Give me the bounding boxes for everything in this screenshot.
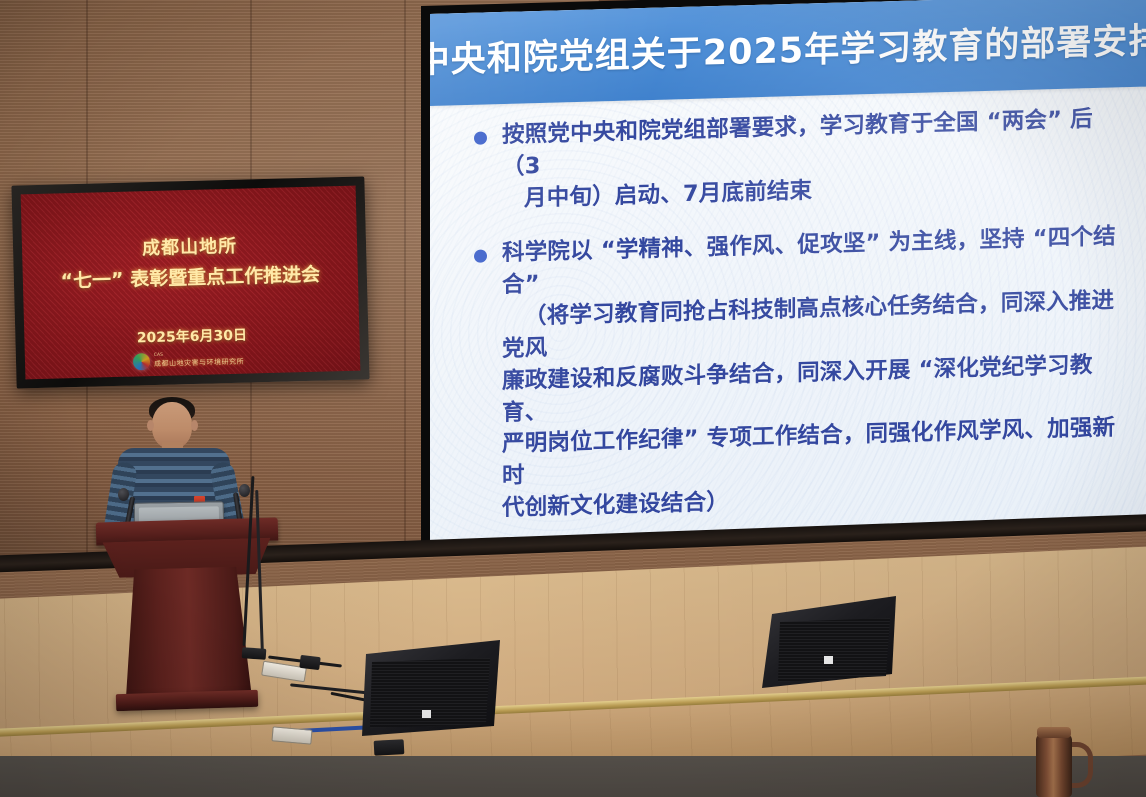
slide-bullet-1: 按照党中央和院党组部署要求，学习教育于全国 “两会” 后（3 月中旬）启动、7月… <box>474 103 1122 216</box>
power-plug <box>299 655 320 670</box>
institute-logo-mark-icon <box>133 353 150 370</box>
monitor-left-brand-badge <box>422 710 431 718</box>
microphone-head-right-icon <box>239 484 250 497</box>
microphone-head-left-icon <box>118 488 129 501</box>
power-plug <box>242 647 267 660</box>
institute-logo-name: 成都山地灾害与环境研究所 <box>154 357 244 369</box>
presenter-ear-right <box>191 420 198 431</box>
monitor-right-grille <box>778 618 890 682</box>
projection-screen: 中央和院党组关于2025年学习教育的部署安排 按照党中央和院党组部署要求，学习教… <box>419 0 1146 576</box>
bullet-1-line-1: 按照党中央和院党组部署要求，学习教育于全国 “两会” 后（3 <box>502 106 1093 180</box>
institute-logo: CAS 成都山地灾害与环境研究所 <box>133 351 244 371</box>
stage-monitor-left <box>362 640 500 744</box>
podium-base <box>116 690 258 711</box>
bullet-1-line-2: 月中旬）启动、7月底前结束 <box>502 167 1122 216</box>
slide-title-bar: 中央和院党组关于2025年学习教育的部署安排 <box>430 0 1146 106</box>
thermos-lid <box>1037 727 1071 738</box>
presenter-ear-left <box>147 420 154 431</box>
presentation-slide: 中央和院党组关于2025年学习教育的部署安排 按照党中央和院党组部署要求，学习教… <box>430 0 1146 544</box>
bullet-dot-icon <box>474 249 487 262</box>
led-banner-line1: 成都山地所 <box>22 229 358 264</box>
led-banner-date: 2025年6月30日 <box>24 322 359 351</box>
institute-logo-text: CAS 成都山地灾害与环境研究所 <box>154 352 244 369</box>
slide-body: 按照党中央和院党组部署要求，学习教育于全国 “两会” 后（3 月中旬）启动、7月… <box>474 103 1122 576</box>
slide-bullet-2: 科学院以 “学精神、强作风、促攻坚” 为主线，坚持 “四个结合” （将学习教育同… <box>474 221 1122 526</box>
thermos-flask <box>1036 734 1072 797</box>
slide-bullet-2-text: 科学院以 “学精神、强作风、促攻坚” 为主线，坚持 “四个结合” （将学习教育同… <box>502 221 1122 525</box>
screen-surface: 中央和院党组关于2025年学习教育的部署安排 按照党中央和院党组部署要求，学习教… <box>419 0 1146 576</box>
monitor-right-brand-badge <box>824 656 833 664</box>
slide-bullet-1-text: 按照党中央和院党组部署要求，学习教育于全国 “两会” 后（3 月中旬）启动、7月… <box>502 103 1122 216</box>
led-banner-frame: 成都山地所 “七一” 表彰暨重点工作推进会 2025年6月30日 CAS 成都山… <box>11 176 369 388</box>
podium-column <box>122 566 252 699</box>
bullet-dot-icon <box>474 131 487 144</box>
conference-hall-scene: 成都山地所 “七一” 表彰暨重点工作推进会 2025年6月30日 CAS 成都山… <box>0 0 1146 797</box>
led-banner-screen: 成都山地所 “七一” 表彰暨重点工作推进会 2025年6月30日 CAS 成都山… <box>21 186 361 380</box>
led-banner-line2: “七一” 表彰暨重点工作推进会 <box>23 259 359 295</box>
stage-monitor-right <box>762 596 896 694</box>
slide-title: 中央和院党组关于2025年学习教育的部署安排 <box>419 12 1146 83</box>
house-floor <box>0 756 1146 797</box>
